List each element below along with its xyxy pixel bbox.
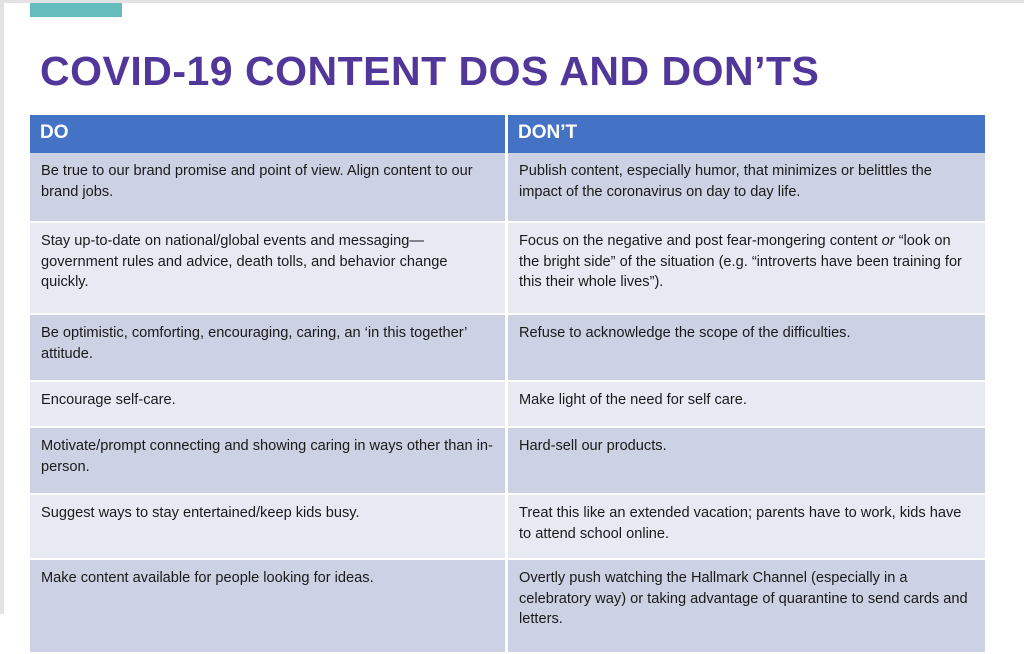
cell-dont-text-a: Focus on the negative and post fear-mong… — [519, 233, 882, 249]
cell-dont: Overtly push watching the Hallmark Chann… — [508, 560, 985, 654]
table-row: Encourage self-care. Make light of the n… — [30, 382, 985, 428]
table-row: Stay up-to-date on national/global event… — [30, 223, 985, 315]
table-header-row: DO DON’T — [30, 115, 985, 153]
cell-do: Stay up-to-date on national/global event… — [30, 223, 508, 315]
cell-dont: Make light of the need for self care. — [508, 382, 985, 428]
cell-do: Make content available for people lookin… — [30, 560, 508, 654]
slide-canvas: COVID-19 CONTENT DOS AND DON’TS DO DON’T… — [0, 0, 1024, 614]
table-row: Motivate/prompt connecting and showing c… — [30, 428, 985, 495]
table-header: DO DON’T — [30, 115, 985, 153]
cell-do: Suggest ways to stay entertained/keep ki… — [30, 495, 508, 560]
cell-do: Motivate/prompt connecting and showing c… — [30, 428, 508, 495]
dos-and-donts-table: DO DON’T Be true to our brand promise an… — [30, 115, 985, 654]
table-row: Be optimistic, comforting, encouraging, … — [30, 315, 985, 382]
cell-do: Be true to our brand promise and point o… — [30, 153, 508, 223]
table-body: Be true to our brand promise and point o… — [30, 153, 985, 654]
cell-dont: Publish content, especially humor, that … — [508, 153, 985, 223]
accent-bar — [30, 3, 122, 17]
cell-dont: Focus on the negative and post fear-mong… — [508, 223, 985, 315]
column-header-dont: DON’T — [508, 115, 985, 153]
table-row: Suggest ways to stay entertained/keep ki… — [30, 495, 985, 560]
table-row: Make content available for people lookin… — [30, 560, 985, 654]
column-header-do: DO — [30, 115, 508, 153]
cell-dont: Refuse to acknowledge the scope of the d… — [508, 315, 985, 382]
page-title: COVID-19 CONTENT DOS AND DON’TS — [40, 50, 819, 93]
table-row: Be true to our brand promise and point o… — [30, 153, 985, 223]
cell-do: Encourage self-care. — [30, 382, 508, 428]
cell-dont: Treat this like an extended vacation; pa… — [508, 495, 985, 560]
cell-dont: Hard-sell our products. — [508, 428, 985, 495]
cell-do: Be optimistic, comforting, encouraging, … — [30, 315, 508, 382]
cell-dont-emphasis: or — [882, 233, 895, 249]
